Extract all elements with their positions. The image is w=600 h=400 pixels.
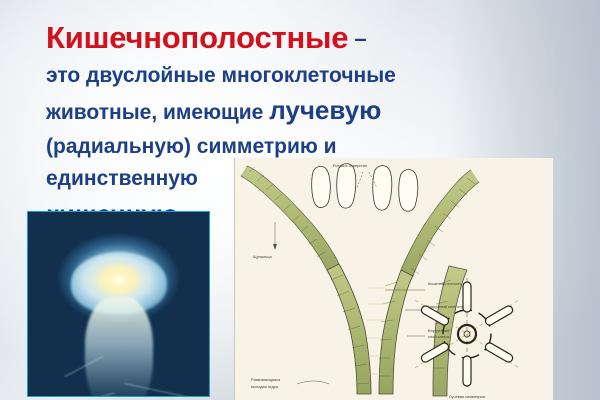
title-row: Кишечнополостные– (46, 22, 566, 53)
body-line-1: это двуслойные многоклеточные (46, 62, 566, 89)
body-line-2-text: животные, имеющие (46, 101, 269, 124)
diagram-label-gut-cavity: Кишечная полость (428, 281, 462, 286)
body-line-2: животные, имеющие лучевую (46, 94, 566, 128)
body-line-4: единственную (46, 165, 566, 192)
title-dash: – (354, 26, 366, 51)
diagram-label-tentacle: Щупальца (253, 254, 272, 259)
jellyfish-glow (97, 264, 141, 296)
diagram-label-inner-layer-1: Внутренний (428, 328, 449, 333)
page-title: Кишечнополостные (46, 20, 348, 55)
diagram-label-inner-layer-2: слой клеток (428, 334, 450, 339)
hydra-anatomy-diagram: Ротовое отверстие (234, 158, 553, 400)
diagram-label-radial-symmetry: Лучевая симметрия (449, 394, 485, 399)
diagram-label-bud-2: молодая гидра (251, 384, 279, 389)
jellyfish-tentacles (85, 297, 153, 397)
presentation-slide: Кишечнополостные– это двуслойные многокл… (0, 0, 600, 400)
diagram-label-bud-1: Развивающаяся (251, 377, 280, 382)
body-emphasis-luchevuyu: лучевую (269, 95, 381, 125)
body-line-3: (радиальную) симметрию и (46, 133, 566, 160)
jellyfish-photo (27, 211, 210, 397)
